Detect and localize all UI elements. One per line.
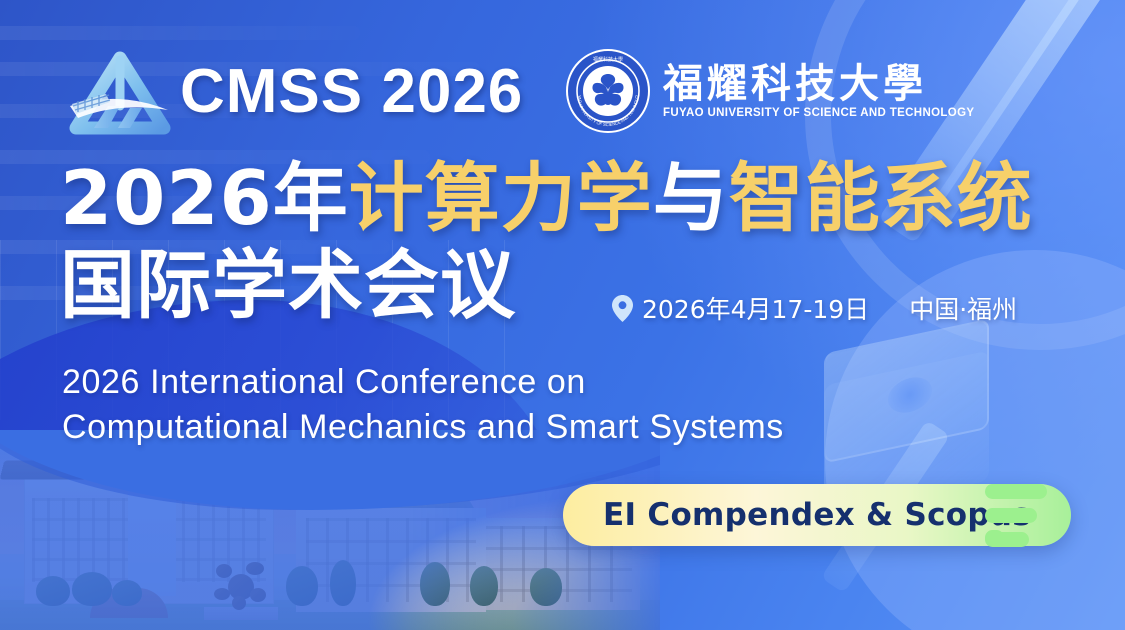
e-bars-mark-icon [985,482,1055,552]
conference-date: 2026年4月17-19日 [642,290,869,326]
title-cn-part-zhinengxitong: 智能系统 [729,154,1033,242]
indexing-badge-label: EI Compendex & Scopus [603,497,1031,533]
conference-location: 中国·福州 [909,290,1017,326]
cmss-acronym-title: CMSS 2026 [180,61,523,123]
svg-text:福耀科技大學: 福耀科技大學 [593,56,623,63]
university-name-en: FUYAO UNIVERSITY OF SCIENCE AND TECHNOLO… [663,107,974,119]
title-en-line2: Computational Mechanics and Smart System… [62,405,784,450]
campus-photo [0,430,660,630]
title-cn-part-yu: 与 [653,154,729,242]
conference-banner: CMSS 2026 福耀科技大學 [0,0,1125,630]
title-en-line1: 2026 International Conference on [62,360,784,405]
conference-title-en: 2026 International Conference on Computa… [62,360,784,450]
fuyao-university-seal-icon: 福耀科技大學 FUYAO UNIVERSITY OF SCIENCE AND T… [565,48,651,134]
header-row: CMSS 2026 [64,44,523,140]
title-cn-year: 2026年 [60,154,349,242]
university-name-cn: 福耀科技大學 [663,63,974,105]
title-cn-part-jisuanli: 计算力 [349,154,577,242]
cmss-pyramid-logo-icon [64,44,176,140]
date-location-row: 2026年4月17-19日 中国·福州 [612,290,1017,326]
title-cn-part-xue: 学 [577,154,653,242]
university-lockup: 福耀科技大學 FUYAO UNIVERSITY OF SCIENCE AND T… [565,48,974,134]
location-pin-icon [612,295,633,322]
